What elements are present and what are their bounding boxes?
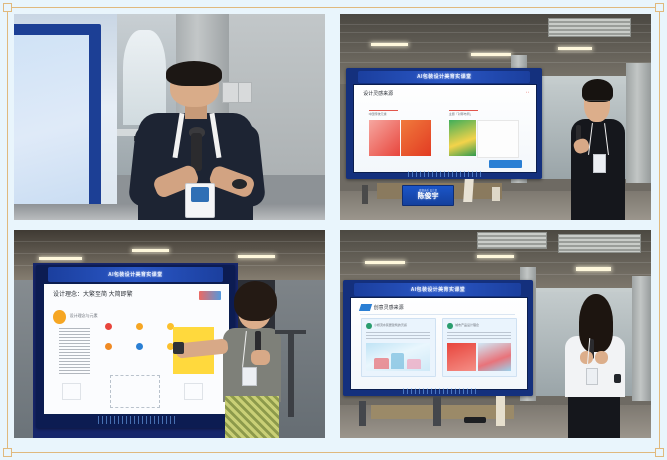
ceiling-light (477, 255, 514, 258)
slide-card: 小桥流水民居建筑的灵感 (361, 318, 435, 376)
slide-artwork (369, 120, 400, 156)
led-video-wall: AI包装设计美育实课堂 设计灵感来源 中国传统元素 主题「对称布局」 • • (346, 68, 542, 179)
slide-label: 主题「对称布局」 (449, 112, 473, 116)
ceiling-light (576, 267, 610, 270)
id-badge (185, 183, 215, 218)
glasses-icon (585, 100, 610, 107)
id-badge (586, 368, 598, 385)
ceiling-vent (558, 234, 641, 253)
presenter-figure (201, 276, 294, 438)
presenter-remote (173, 342, 184, 353)
slide-artwork (401, 120, 432, 156)
presenter-torso (223, 328, 281, 403)
photo-top-left-scene (14, 14, 325, 220)
slide-marker-icon (358, 304, 371, 311)
ceiling-light (238, 255, 275, 258)
slide-title: 设计灵感来源 (363, 90, 393, 97)
slide-label: 中国传统元素 (369, 112, 387, 116)
slide-title: 设计理念：大繁至简 大简即繁 (53, 289, 133, 298)
slide-card-title: 城市产品设计理念 (455, 323, 479, 327)
support-column (632, 276, 651, 401)
ceiling-light (371, 43, 408, 46)
check-icon (447, 323, 453, 330)
led-banner: AI包装设计美育实课堂 (48, 267, 223, 282)
mic-stand (359, 401, 367, 426)
led-chevron-decor (400, 388, 476, 394)
id-badge (242, 367, 257, 387)
light-stand (288, 334, 294, 417)
mic-stand (362, 185, 368, 204)
led-video-wall: AI包装设计美育实课堂 创意灵感来源 小桥流水民居建筑的灵感 (343, 280, 533, 396)
slide-icon (136, 323, 143, 330)
slide-artwork (449, 120, 476, 156)
led-chevron-decor (95, 416, 175, 424)
ceiling-vent (477, 232, 547, 249)
tripod-stand (492, 187, 500, 201)
photo-top-right-scene: AI包装设计美育实课堂 设计灵感来源 中国传统元素 主题「对称布局」 • • (340, 14, 651, 220)
led-banner: AI包装设计美育实课堂 (358, 71, 530, 83)
name-plate: 参赛选手 设计组 陈俊宇 (402, 185, 454, 206)
presenter-figure (558, 292, 633, 438)
ceiling-light (471, 53, 511, 56)
slide-card-image (366, 343, 430, 371)
wristwatch-icon (614, 374, 621, 383)
podium-table (371, 405, 514, 420)
display-panel-glass (14, 35, 89, 210)
photo-bottom-right[interactable]: AI包装设计美育实课堂 创意灵感来源 小桥流水民居建筑的灵感 (340, 230, 651, 438)
corner-marker-top-left (3, 3, 12, 12)
presenter-hair (582, 79, 613, 102)
slide-title: 创意灵感来源 (374, 304, 404, 311)
remote-on-table (464, 417, 486, 423)
ceiling-vent (548, 18, 631, 36)
wall-outlet (222, 82, 252, 103)
photo-top-right[interactable]: AI包装设计美育实课堂 设计灵感来源 中国传统元素 主题「对称布局」 • • (340, 14, 651, 220)
slide-card-title: 小桥流水民居建筑的灵感 (374, 323, 407, 327)
slide-paragraph (59, 328, 90, 375)
presenter-skirt (225, 396, 279, 438)
photo-bottom-right-scene: AI包装设计美育实课堂 创意灵感来源 小桥流水民居建筑的灵感 (340, 230, 651, 438)
led-banner: AI包装设计美育实课堂 (354, 283, 521, 296)
presenter-hand (251, 350, 270, 365)
photo-bottom-left-scene: AI包装设计美育实课堂 设计理念：大繁至简 大简即繁 设计理念与元素 (14, 230, 325, 438)
mic-stand (433, 396, 441, 425)
frosted-window (123, 30, 167, 125)
slide-icon (105, 323, 112, 330)
corner-marker-top-right (655, 3, 664, 12)
ceiling-light (39, 257, 83, 260)
led-banner-text: AI包装设计美育实课堂 (417, 73, 471, 80)
slide-bullet-icon (53, 310, 66, 324)
presentation-slide: 设计灵感来源 中国传统元素 主题「对称布局」 • • (353, 84, 537, 173)
slide-thumb (62, 383, 81, 401)
slide-icon (136, 343, 143, 350)
photo-grid: Male presenter in navy t-shirt holding a… (14, 14, 651, 438)
slide-placeholder-frame (110, 375, 160, 408)
photo-bottom-left[interactable]: AI包装设计美育实课堂 设计理念：大繁至简 大简即繁 设计理念与元素 (14, 230, 325, 438)
presenter-hair (579, 294, 613, 352)
presenter-figure (564, 76, 632, 220)
presenter-hair (234, 281, 277, 322)
slide-icon (105, 343, 112, 350)
slide-card-text (447, 332, 511, 340)
corner-marker-bottom-right (655, 448, 664, 457)
light-stand-arm (275, 330, 306, 334)
slide-section-label: 设计理念与元素 (70, 313, 98, 319)
photo-collage-page: Male presenter in navy t-shirt holding a… (0, 0, 667, 460)
slide-card-image (447, 343, 476, 371)
presenter-hand (595, 351, 608, 364)
tripod-stand (496, 396, 505, 425)
check-icon (366, 323, 372, 330)
name-plate-name: 陈俊宇 (418, 193, 439, 200)
slide-card-image (478, 343, 511, 371)
id-badge (593, 154, 607, 173)
led-banner-text: AI包装设计美育实课堂 (108, 271, 162, 278)
ceiling-light (558, 47, 592, 50)
slide-artwork (477, 120, 519, 158)
led-chevron-decor (405, 171, 483, 177)
ceiling-light (132, 249, 169, 252)
microphone-icon (191, 133, 202, 170)
photo-top-left[interactable]: Male presenter in navy t-shirt holding a… (14, 14, 325, 220)
slide-card-text (366, 332, 430, 340)
led-banner-text: AI包装设计美育实课堂 (411, 286, 465, 293)
slide-card: 城市产品设计理念 (442, 318, 516, 376)
ceiling-light (365, 261, 405, 264)
presenter-trousers (568, 391, 620, 438)
presentation-slide: 创意灵感来源 小桥流水民居建筑的灵感 (350, 297, 528, 390)
presenter-hair (166, 61, 222, 86)
corner-marker-bottom-left (3, 448, 12, 457)
slide-badge (489, 160, 522, 168)
